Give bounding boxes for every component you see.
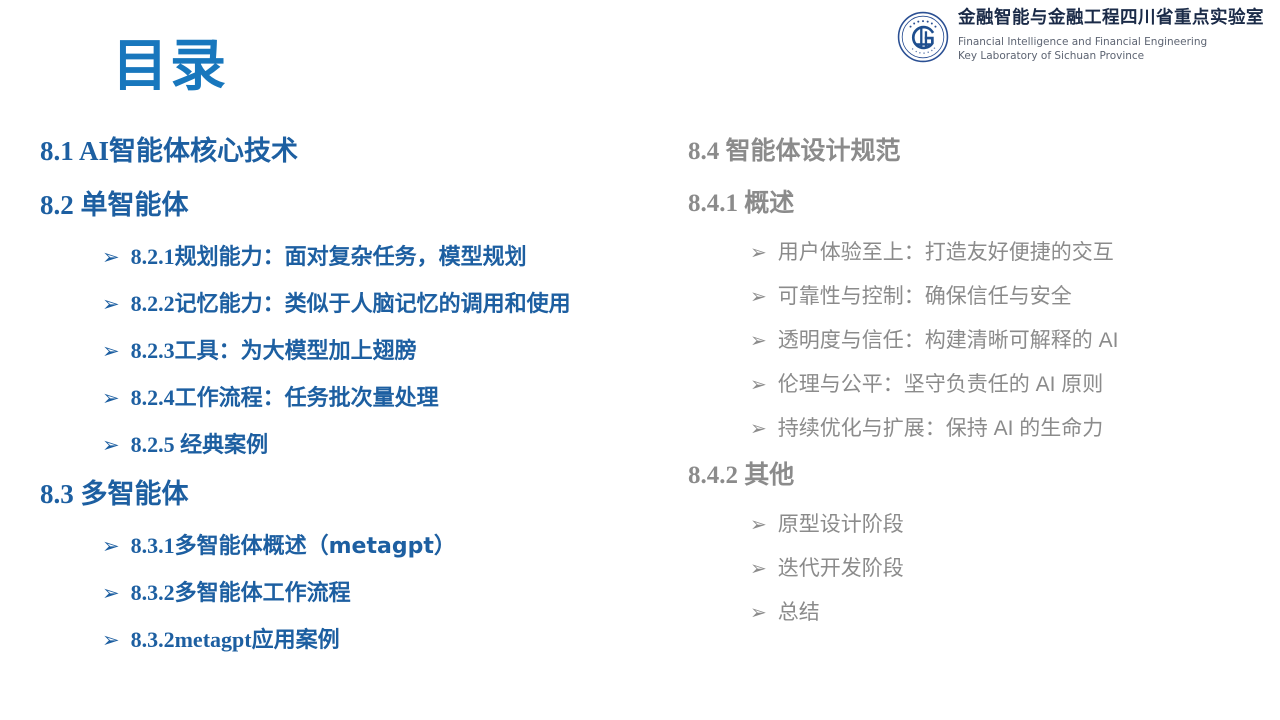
toc-item-summary-label: 总结 bbox=[778, 602, 820, 623]
toc-heading-8-3[interactable]: 8.3 多智能体 bbox=[40, 481, 680, 508]
toc-heading-8-4-2-text: 其他 bbox=[744, 460, 794, 489]
arrow-bullet-icon: ➢ bbox=[750, 330, 767, 350]
arrow-bullet-icon: ➢ bbox=[750, 374, 767, 394]
toc-item-8-3-2-num: 8.3.2 bbox=[131, 580, 175, 605]
toc-item-8-3-2-label: 多智能体工作流程 bbox=[175, 581, 351, 606]
toc-item-8-2-5-num: 8.2.5 bbox=[131, 432, 181, 457]
toc-item-reliability-control-label: 可靠性与控制：确保信任与安全 bbox=[778, 286, 1072, 307]
toc-item-8-2-2-label: 记忆能力：类似于人脑记忆的调用和使用 bbox=[175, 292, 571, 317]
lab-name-en-line1: Financial Intelligence and Financial Eng… bbox=[958, 35, 1264, 49]
arrow-bullet-icon: ➢ bbox=[102, 247, 120, 268]
toc-item-8-3-2-metagpt-label: 应用案例 bbox=[252, 628, 340, 653]
toc-item-8-2-4-num: 8.2.4 bbox=[131, 385, 175, 410]
toc-item-8-3-2[interactable]: ➢ 8.3.2多智能体工作流程 bbox=[40, 582, 680, 605]
university-seal-icon bbox=[897, 11, 949, 63]
toc-heading-8-2[interactable]: 8.2 单智能体 bbox=[40, 192, 680, 219]
toc-item-8-2-5[interactable]: ➢ 8.2.5 经典案例 bbox=[40, 434, 680, 457]
toc-item-8-2-2-num: 8.2.2 bbox=[131, 291, 175, 316]
toc-item-8-2-4[interactable]: ➢ 8.2.4工作流程：任务批次量处理 bbox=[40, 387, 680, 410]
toc-item-8-2-3-label: 工具：为大模型加上翅膀 bbox=[175, 339, 417, 364]
toc-item-8-2-3[interactable]: ➢ 8.2.3工具：为大模型加上翅膀 bbox=[40, 340, 680, 363]
toc-item-ux-first-label: 用户体验至上：打造友好便捷的交互 bbox=[778, 242, 1114, 263]
toc-item-8-3-2-metagpt[interactable]: ➢ 8.3.2metagpt应用案例 bbox=[40, 629, 680, 652]
toc-item-8-2-1-label: 规划能力：面对复杂任务，模型规划 bbox=[175, 245, 527, 270]
lab-name-en: Financial Intelligence and Financial Eng… bbox=[958, 35, 1264, 64]
toc-item-prototype-phase[interactable]: ➢ 原型设计阶段 bbox=[688, 514, 1268, 535]
toc-heading-8-4[interactable]: 8.4 智能体设计规范 bbox=[688, 138, 1268, 164]
toc-body: 8.1 AI智能体核心技术 8.2 单智能体 ➢ 8.2.1规划能力：面对复杂任… bbox=[0, 138, 1280, 720]
lab-name-block: 金融智能与金融工程四川省重点实验室 Financial Intelligence… bbox=[958, 10, 1264, 63]
arrow-bullet-icon: ➢ bbox=[750, 242, 767, 262]
slide-canvas: 金融智能与金融工程四川省重点实验室 Financial Intelligence… bbox=[0, 0, 1280, 720]
toc-item-8-2-2[interactable]: ➢ 8.2.2记忆能力：类似于人脑记忆的调用和使用 bbox=[40, 293, 680, 316]
lab-name-en-line2: Key Laboratory of Sichuan Province bbox=[958, 49, 1264, 63]
toc-item-iterative-development-phase[interactable]: ➢ 迭代开发阶段 bbox=[688, 558, 1268, 579]
arrow-bullet-icon: ➢ bbox=[102, 583, 120, 604]
toc-item-8-3-1-text: 8.3.1多智能体概述（metagpt） bbox=[131, 535, 456, 558]
page-title: 目录 bbox=[112, 36, 228, 98]
toc-item-summary[interactable]: ➢ 总结 bbox=[688, 602, 1268, 623]
toc-heading-8-2-text: 单智能体 bbox=[81, 190, 189, 221]
lab-branding: 金融智能与金融工程四川省重点实验室 Financial Intelligence… bbox=[897, 10, 1264, 63]
toc-column-right: 8.4 智能体设计规范 8.4.1 概述 ➢ 用户体验至上：打造友好便捷的交互 … bbox=[688, 138, 1268, 646]
toc-item-8-2-2-text: 8.2.2记忆能力：类似于人脑记忆的调用和使用 bbox=[131, 293, 571, 316]
toc-item-8-2-5-label: 经典案例 bbox=[180, 433, 268, 458]
toc-item-continuous-optimization-label: 持续优化与扩展：保持 AI 的生命力 bbox=[778, 418, 1104, 439]
toc-item-8-2-3-text: 8.2.3工具：为大模型加上翅膀 bbox=[131, 340, 417, 363]
toc-column-left: 8.1 AI智能体核心技术 8.2 单智能体 ➢ 8.2.1规划能力：面对复杂任… bbox=[40, 138, 680, 676]
toc-item-8-3-2-text: 8.3.2多智能体工作流程 bbox=[131, 582, 351, 605]
toc-item-8-3-1-label: 多智能体概述（metagpt） bbox=[175, 534, 456, 559]
toc-heading-8-4-1-num: 8.4.1 bbox=[688, 190, 744, 217]
toc-item-iterative-development-phase-label: 迭代开发阶段 bbox=[778, 558, 904, 579]
arrow-bullet-icon: ➢ bbox=[102, 435, 120, 456]
toc-heading-8-3-text: 多智能体 bbox=[81, 479, 189, 510]
toc-item-ethics-fairness-label: 伦理与公平：坚守负责任的 AI 原则 bbox=[778, 374, 1104, 395]
arrow-bullet-icon: ➢ bbox=[102, 388, 120, 409]
toc-item-8-3-2-metagpt-num: 8.3.2metagpt bbox=[131, 627, 252, 652]
toc-item-8-3-2-metagpt-text: 8.3.2metagpt应用案例 bbox=[131, 629, 340, 652]
arrow-bullet-icon: ➢ bbox=[750, 418, 767, 438]
toc-item-8-2-1-text: 8.2.1规划能力：面对复杂任务，模型规划 bbox=[131, 246, 527, 269]
toc-item-8-2-3-num: 8.2.3 bbox=[131, 338, 175, 363]
toc-item-8-2-4-label: 工作流程：任务批次量处理 bbox=[175, 386, 439, 411]
toc-heading-8-1-num: 8.1 AI bbox=[40, 136, 109, 166]
toc-heading-8-4-text: 智能体设计规范 bbox=[726, 136, 901, 165]
toc-heading-8-4-num: 8.4 bbox=[688, 138, 726, 165]
arrow-bullet-icon: ➢ bbox=[102, 630, 120, 651]
arrow-bullet-icon: ➢ bbox=[102, 294, 120, 315]
toc-item-continuous-optimization[interactable]: ➢ 持续优化与扩展：保持 AI 的生命力 bbox=[688, 418, 1268, 439]
toc-heading-8-4-2-num: 8.4.2 bbox=[688, 462, 744, 489]
toc-item-transparency-trust-label: 透明度与信任：构建清晰可解释的 AI bbox=[778, 330, 1119, 351]
arrow-bullet-icon: ➢ bbox=[750, 286, 767, 306]
toc-heading-8-2-num: 8.2 bbox=[40, 190, 81, 220]
toc-item-prototype-phase-label: 原型设计阶段 bbox=[778, 514, 904, 535]
toc-heading-8-1-text: 智能体核心技术 bbox=[109, 136, 298, 167]
arrow-bullet-icon: ➢ bbox=[750, 558, 767, 578]
lab-name-cn: 金融智能与金融工程四川省重点实验室 bbox=[958, 10, 1264, 28]
toc-item-8-2-1-num: 8.2.1 bbox=[131, 244, 175, 269]
toc-heading-8-3-num: 8.3 bbox=[40, 479, 81, 509]
toc-item-reliability-control[interactable]: ➢ 可靠性与控制：确保信任与安全 bbox=[688, 286, 1268, 307]
toc-heading-8-1[interactable]: 8.1 AI智能体核心技术 bbox=[40, 138, 680, 165]
toc-item-transparency-trust[interactable]: ➢ 透明度与信任：构建清晰可解释的 AI bbox=[688, 330, 1268, 351]
arrow-bullet-icon: ➢ bbox=[102, 341, 120, 362]
toc-item-ethics-fairness[interactable]: ➢ 伦理与公平：坚守负责任的 AI 原则 bbox=[688, 374, 1268, 395]
arrow-bullet-icon: ➢ bbox=[750, 514, 767, 534]
arrow-bullet-icon: ➢ bbox=[750, 602, 767, 622]
toc-item-ux-first[interactable]: ➢ 用户体验至上：打造友好便捷的交互 bbox=[688, 242, 1268, 263]
toc-item-8-2-1[interactable]: ➢ 8.2.1规划能力：面对复杂任务，模型规划 bbox=[40, 246, 680, 269]
toc-heading-8-4-1[interactable]: 8.4.1 概述 bbox=[688, 190, 1268, 216]
arrow-bullet-icon: ➢ bbox=[102, 536, 120, 557]
toc-item-8-3-1-num: 8.3.1 bbox=[131, 533, 175, 558]
toc-item-8-2-5-text: 8.2.5 经典案例 bbox=[131, 434, 269, 457]
toc-item-8-2-4-text: 8.2.4工作流程：任务批次量处理 bbox=[131, 387, 439, 410]
toc-heading-8-4-1-text: 概述 bbox=[744, 188, 794, 217]
toc-item-8-3-1[interactable]: ➢ 8.3.1多智能体概述（metagpt） bbox=[40, 535, 680, 558]
toc-heading-8-4-2[interactable]: 8.4.2 其他 bbox=[688, 462, 1268, 488]
